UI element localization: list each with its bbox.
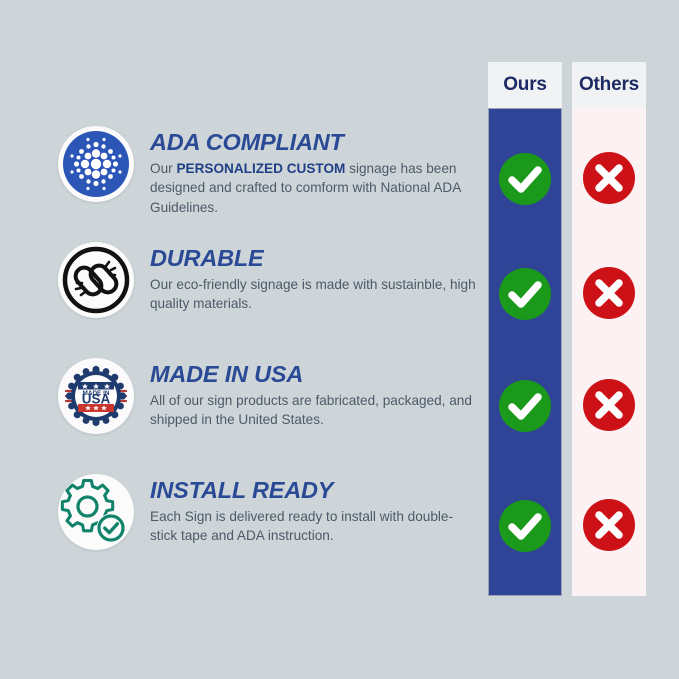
gear-check-icon xyxy=(58,474,134,550)
column-header-others: Others xyxy=(572,62,646,108)
column-header-ours: Ours xyxy=(488,62,562,108)
check-mark-icon xyxy=(499,268,551,320)
cross-mark-icon xyxy=(583,499,635,551)
comparison-table: Ours Others xyxy=(488,62,656,596)
check-mark-icon xyxy=(499,380,551,432)
feature-text: MADE IN USA All of our sign products are… xyxy=(150,362,478,430)
feature-text: INSTALL READY Each Sign is delivered rea… xyxy=(150,478,478,546)
feature-description: All of our sign products are fabricated,… xyxy=(150,391,478,430)
check-mark-icon xyxy=(499,153,551,205)
comparison-column-others: Others xyxy=(572,62,646,596)
feature-title: INSTALL READY xyxy=(150,478,478,503)
made-in-usa-badge-icon: MADE IN USA xyxy=(58,358,134,434)
feature-text: DURABLE Our eco-friendly signage is made… xyxy=(150,246,478,314)
feature-title: ADA COMPLIANT xyxy=(150,130,478,155)
feature-row: INSTALL READY Each Sign is delivered rea… xyxy=(58,466,478,582)
feature-list: ADA COMPLIANT Our PERSONALIZED CUSTOM si… xyxy=(58,118,478,582)
ada-dots-icon xyxy=(58,126,134,202)
badge-line2: USA xyxy=(82,392,111,407)
column-body-others xyxy=(572,108,646,596)
feature-text: ADA COMPLIANT Our PERSONALIZED CUSTOM si… xyxy=(150,130,478,218)
feature-row: DURABLE Our eco-friendly signage is made… xyxy=(58,234,478,350)
comparison-infographic: ADA COMPLIANT Our PERSONALIZED CUSTOM si… xyxy=(0,0,679,679)
feature-title: DURABLE xyxy=(150,246,478,271)
check-mark-icon xyxy=(499,500,551,552)
feature-description: Our PERSONALIZED CUSTOM signage has been… xyxy=(150,159,478,218)
feature-description: Our eco-friendly signage is made with su… xyxy=(150,275,478,314)
column-body-ours xyxy=(488,108,562,596)
cross-mark-icon xyxy=(583,152,635,204)
column-header-label: Others xyxy=(579,74,639,96)
unbreakable-link-icon xyxy=(58,242,134,318)
cross-mark-icon xyxy=(583,267,635,319)
feature-description: Each Sign is delivered ready to install … xyxy=(150,507,478,546)
feature-title: MADE IN USA xyxy=(150,362,478,387)
comparison-column-ours: Ours xyxy=(488,62,562,596)
cross-mark-icon xyxy=(583,379,635,431)
column-header-label: Ours xyxy=(503,74,547,96)
feature-row: ADA COMPLIANT Our PERSONALIZED CUSTOM si… xyxy=(58,118,478,234)
feature-row: MADE IN USA MADE IN USA All of our sign … xyxy=(58,350,478,466)
